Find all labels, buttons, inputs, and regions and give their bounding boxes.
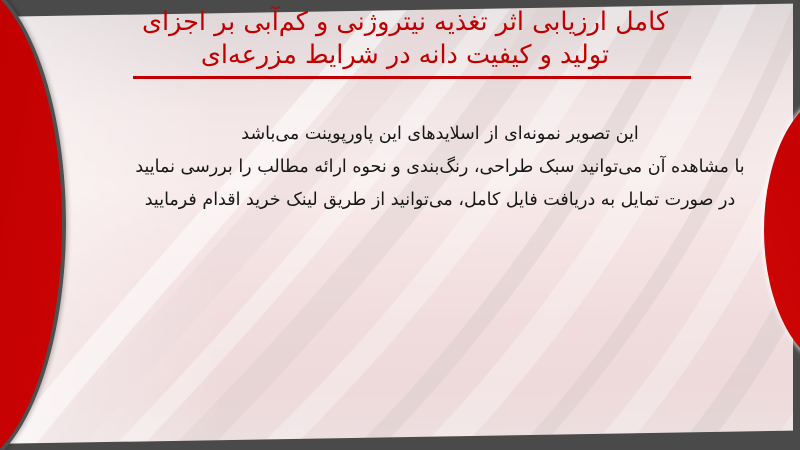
body-line-2: با مشاهده آن می‌توانید سبک طراحی، رنگ‌بن… [120,151,760,184]
slide-body: این تصویر نمونه‌ای از اسلایدهای این پاور… [120,118,760,217]
title-line-2: تولید و کیفیت دانه در شرایط مزرعه‌ای [110,39,700,72]
title-underline-rule [133,76,691,79]
title-line-1: کامل ارزیابی اثر تغذیه نیتروژنی و کم‌آبی… [110,6,700,39]
slide-content: کامل ارزیابی اثر تغذیه نیتروژنی و کم‌آبی… [0,0,800,450]
presentation-slide: کامل ارزیابی اثر تغذیه نیتروژنی و کم‌آبی… [0,0,800,450]
body-line-3: در صورت تمایل به دریافت فایل کامل، می‌تو… [120,184,760,217]
body-line-1: این تصویر نمونه‌ای از اسلایدهای این پاور… [120,118,760,151]
slide-title: کامل ارزیابی اثر تغذیه نیتروژنی و کم‌آبی… [110,6,700,72]
